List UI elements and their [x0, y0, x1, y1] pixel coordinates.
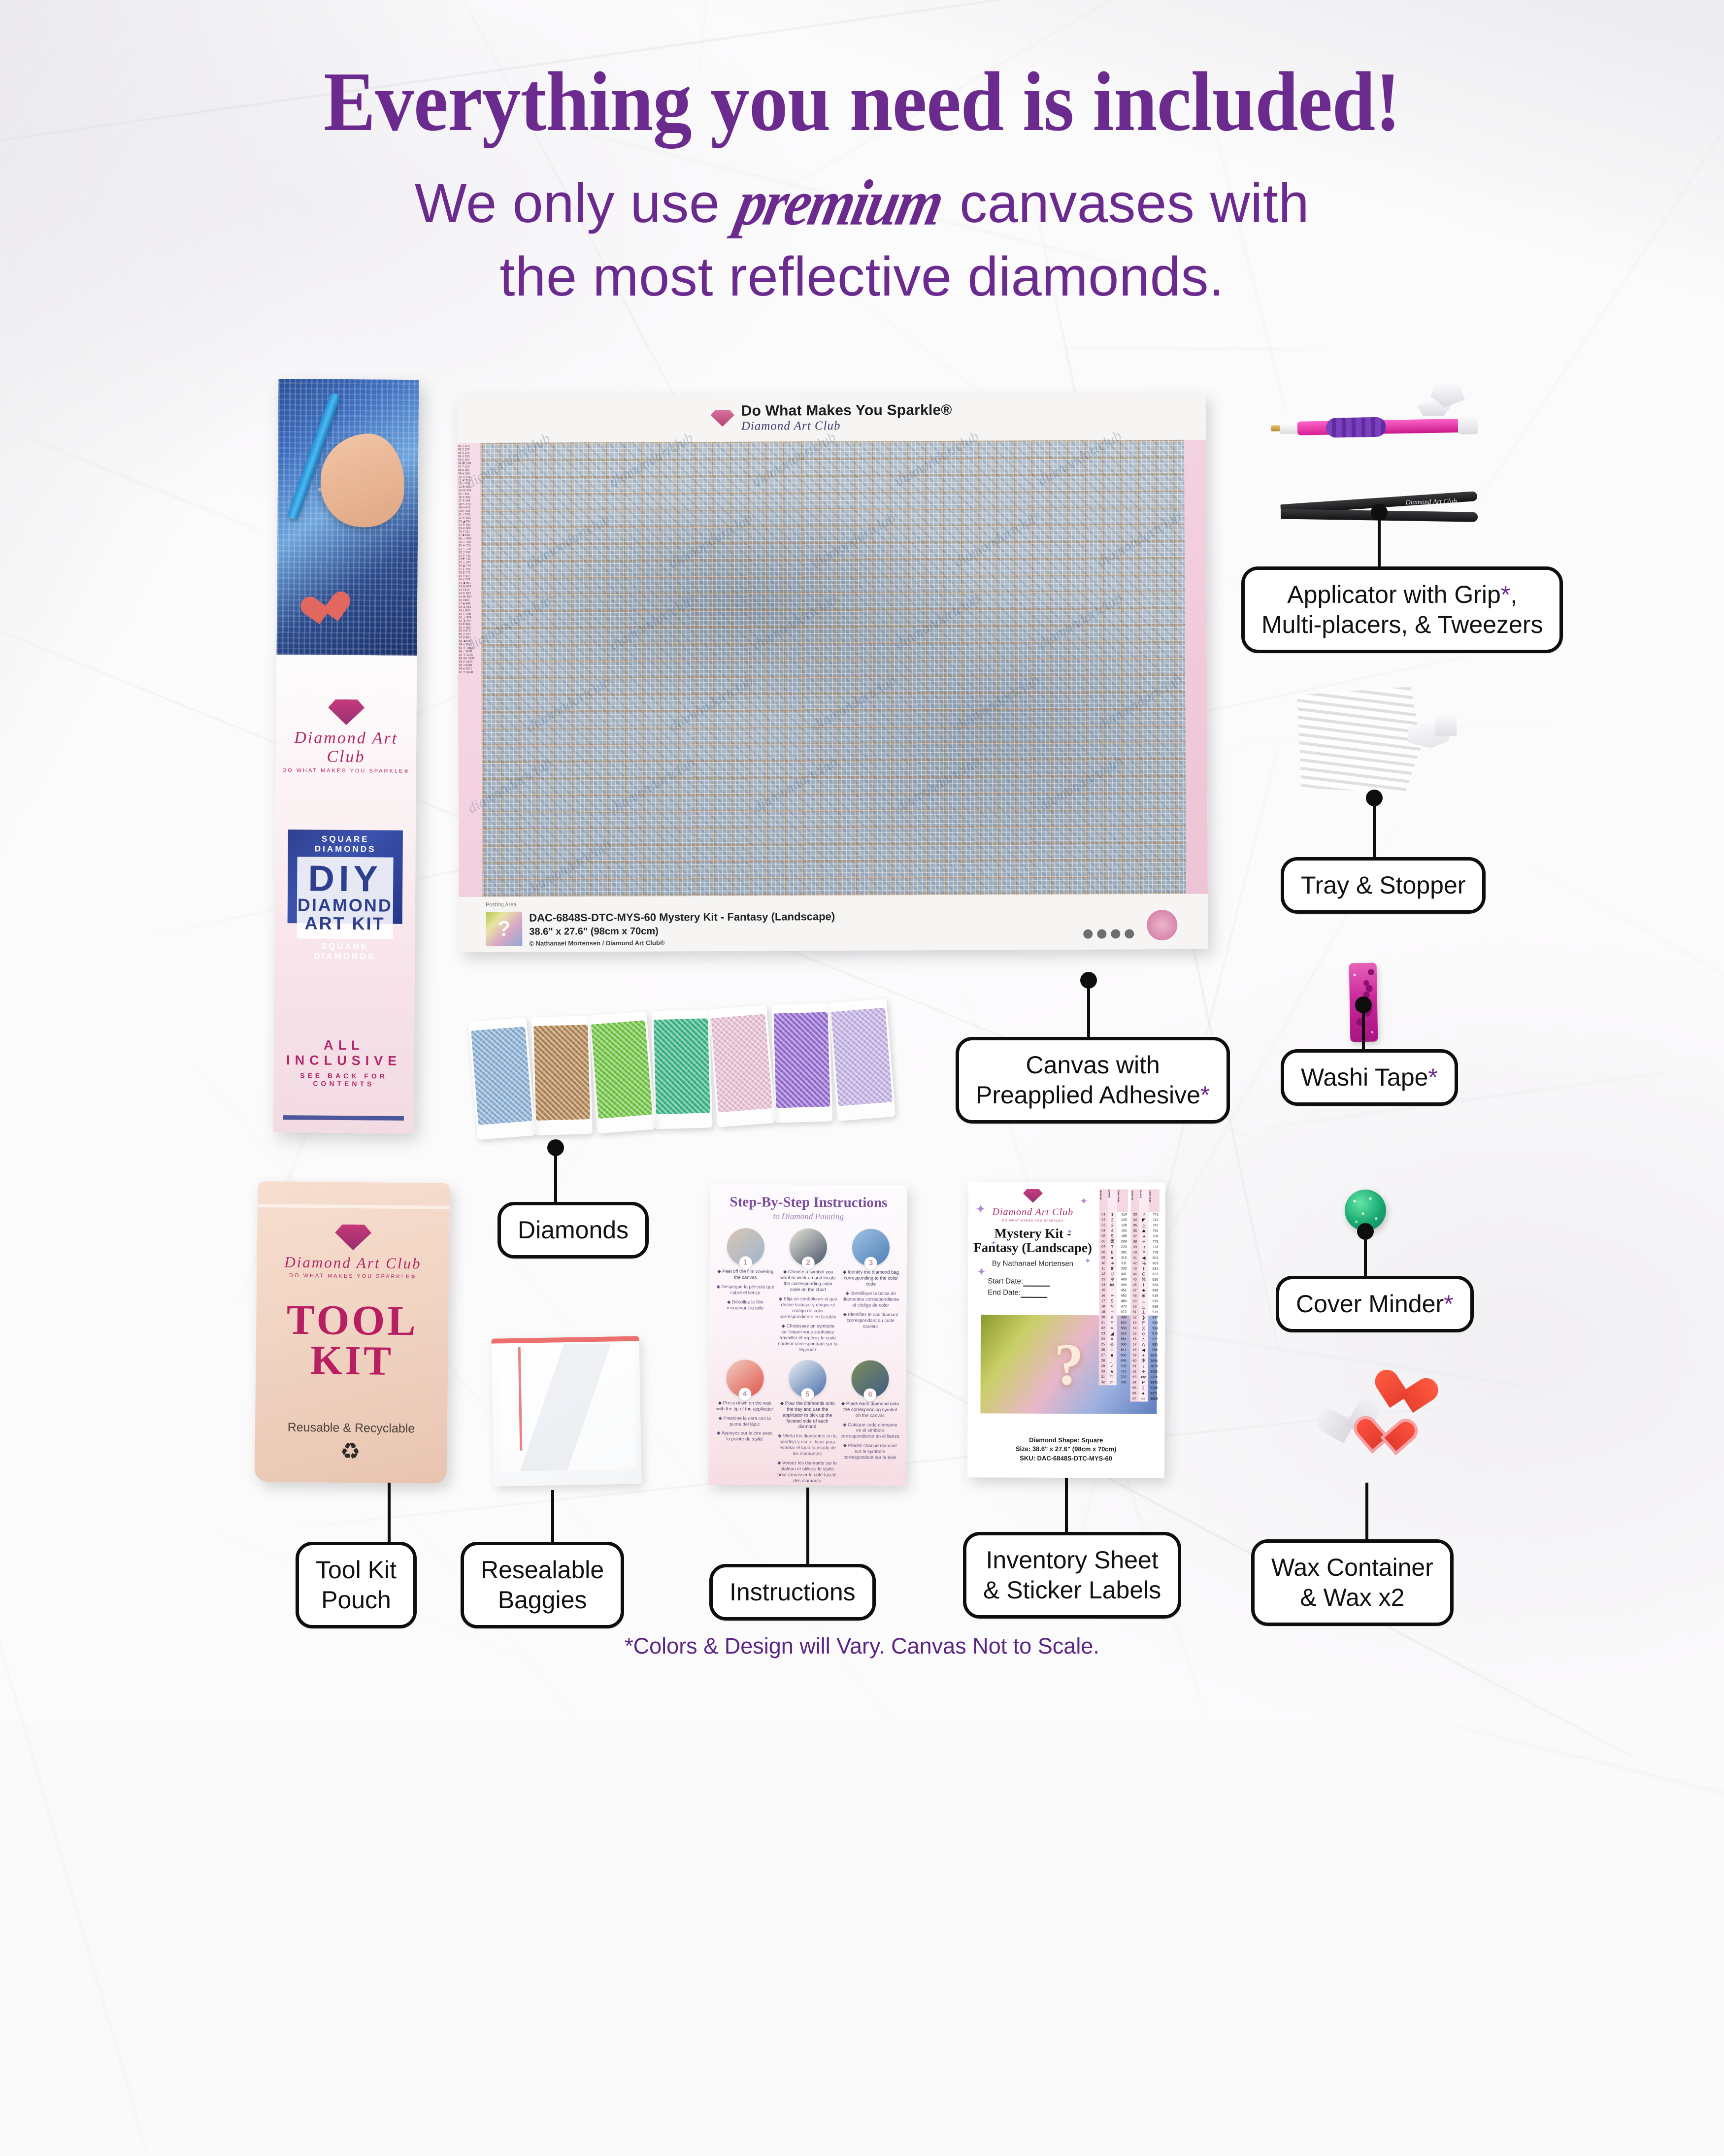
inventory-cell-sy: #: [1139, 1250, 1149, 1256]
inventory-cell-sy: ✕: [1107, 1336, 1117, 1342]
inventory-cell-cc: 747: [1149, 1223, 1160, 1228]
inventory-table-row: 49L935: [1130, 1298, 1159, 1304]
inventory-cell-sy: ↑: [1107, 1288, 1117, 1293]
instruction-text-fr: ◆ Choisissez un symbole sur lequel vous …: [778, 1323, 838, 1353]
inventory-table-row: 011119: [1099, 1212, 1128, 1217]
inventory-cell-sn: 49: [1130, 1298, 1139, 1304]
diy-line2: DIAMOND: [297, 896, 393, 915]
callout-label-line: Inventory Sheet: [983, 1545, 1161, 1575]
instruction-text-en: ◆ Choose a symbol you want to work on an…: [778, 1269, 838, 1294]
inventory-table-row: 12U341: [1099, 1271, 1127, 1277]
inventory-cell-sn: 43: [1130, 1266, 1139, 1271]
subtitle-part2: canvases with: [960, 172, 1309, 234]
inventory-table-row: 10➜311: [1099, 1260, 1127, 1266]
inventory-header-cc: Color Code: [1149, 1190, 1160, 1212]
inventory-table-row: 50◺938: [1130, 1304, 1159, 1309]
diamond-bag-lip: [531, 1016, 590, 1026]
callout-label-washi: Washi Tape*: [1281, 1049, 1458, 1106]
leader-line: [1065, 1478, 1068, 1532]
instruction-step-photo: 1: [727, 1228, 764, 1265]
inventory-cell-cc: 964: [1148, 1326, 1159, 1331]
inventory-cell-sn: 65: [1130, 1385, 1139, 1391]
inventory-cell-sy: 朩: [1139, 1359, 1148, 1364]
inventory-cell-sy: F: [1139, 1321, 1148, 1326]
inventory-table-row: 06柔208: [1099, 1239, 1128, 1244]
inventory-cell-sy: J: [1139, 1386, 1148, 1391]
callout-label-baggies: ResealableBaggies: [461, 1542, 624, 1628]
instruction-text-fr: ◆ Décollez le film recouvrant la toile: [715, 1299, 775, 1312]
inventory-cell-sy: ⇨: [1138, 1396, 1148, 1402]
callout-label-line: Preapplied Adhesive*: [976, 1080, 1210, 1110]
inventory-cell-cc: 498: [1117, 1315, 1127, 1320]
inventory-cell-cc: 502: [1117, 1320, 1127, 1326]
instruction-step-number: 4: [738, 1388, 751, 1400]
inventory-cell-sn: 18: [1099, 1304, 1107, 1309]
diamond-bag-fill: [831, 1008, 893, 1106]
inventory-cell-sy: ‡: [1107, 1347, 1117, 1353]
diamond-bag-fill: [711, 1014, 772, 1112]
wax-container: [1358, 1417, 1403, 1459]
canvas-copyright: © Nathanael Mortensen / Diamond Art Club…: [529, 938, 835, 947]
inventory-cell-sn: 02: [1099, 1217, 1108, 1223]
instruction-text-es: ◆ Vierta los diamantes en la bandeja y u…: [777, 1433, 837, 1458]
callout-label-wax: Wax Container& Wax x2: [1251, 1539, 1454, 1626]
canvas-watermark: diamondartclub: [808, 510, 898, 572]
diamond-bag-lip: [771, 1003, 829, 1014]
callout-label-line: Baggies: [481, 1585, 604, 1615]
inventory-table-row: 022120: [1099, 1217, 1128, 1223]
social-icons: [1083, 929, 1134, 938]
instructions-heading: Step-By-Step Instructions: [716, 1194, 901, 1211]
inventory-cell-sn: 67: [1130, 1396, 1138, 1401]
inventory-cell-sy: P: [1139, 1380, 1148, 1386]
inventory-cell-cc: 3078: [1148, 1364, 1159, 1369]
inventory-table-row: 31♡702: [1099, 1374, 1127, 1380]
leader-line: [551, 1490, 554, 1542]
inventory-table-row: 21Y502: [1099, 1320, 1127, 1326]
instruction-text-en: ◆ Place each diamond onto the correspond…: [840, 1401, 900, 1419]
instructions-subheading: to Diamond Painting: [716, 1211, 901, 1222]
inventory-cell-cc: 120: [1117, 1217, 1128, 1223]
marble-vein: [1526, 863, 1724, 1114]
inventory-cell-sn: 62: [1130, 1369, 1139, 1374]
inventory-table-row: 16✳452: [1099, 1293, 1127, 1298]
tweezer-brand-script: Diamond Art Club: [1405, 498, 1457, 507]
pen-cap-end: [1458, 416, 1478, 434]
instruction-step: 6◆ Place each diamond onto the correspon…: [840, 1360, 900, 1485]
brand-tagline: DO WHAT MAKES YOU SPARKLE®: [276, 767, 416, 774]
inventory-cell-sn: 41: [1130, 1255, 1139, 1260]
inventory-cell-cc: 165: [1117, 1233, 1128, 1239]
inventory-cell-cc: 451: [1117, 1288, 1127, 1293]
instruction-step-number: 5: [801, 1388, 814, 1401]
inventory-table-row: 42%803: [1130, 1260, 1159, 1266]
canvas-watermark: diamondartclub: [893, 591, 983, 653]
inventory-cell-sn: 50: [1130, 1304, 1139, 1309]
inventory-cell-sy: ∧: [1139, 1337, 1148, 1342]
canvas-footer-text: DAC-6848S-DTC-MYS-60 Mystery Kit - Fanta…: [529, 910, 835, 947]
inventory-cell-sn: 34: [1131, 1217, 1139, 1223]
inventory-cell-cc: 452: [1117, 1293, 1127, 1298]
inventory-cell-sn: 55: [1130, 1331, 1139, 1336]
instruction-step: 3◆ Identify the diamond bag correspondin…: [840, 1228, 901, 1353]
washi-pattern-dot: [1368, 969, 1374, 975]
inventory-cell-sy: +: [1139, 1353, 1148, 1359]
canvas-header: Do What Makes You Sparkle® Diamond Art C…: [457, 393, 1206, 443]
inventory-cell-cc: 772: [1149, 1239, 1160, 1245]
resealable-baggies: [491, 1336, 641, 1486]
inventory-cell-sy: A: [1139, 1342, 1148, 1348]
inventory-table-row: 62✛3325: [1130, 1369, 1159, 1374]
posting-area-label: Posting Area: [486, 902, 516, 908]
callout-label-line: Pouch: [316, 1585, 397, 1615]
inventory-cell-sn: 45: [1130, 1277, 1139, 1282]
asterisk-marker: *: [1200, 1081, 1210, 1109]
inventory-cell-sn: 09: [1099, 1255, 1107, 1260]
inventory-cell-sy: ◀: [1139, 1256, 1148, 1261]
inventory-cell-cc: 472: [1117, 1309, 1127, 1315]
inventory-cell-sy: C: [1139, 1272, 1148, 1277]
inventory-cell-sn: 53: [1130, 1320, 1139, 1326]
inventory-cell-cc: 814: [1148, 1266, 1159, 1272]
inventory-table-row: 38E772: [1131, 1239, 1160, 1244]
inventory-table-row: 077223: [1099, 1244, 1128, 1250]
inventory-artist: By Nathanael Mortensen: [973, 1260, 1092, 1268]
inventory-cell-sy: ◤: [1139, 1218, 1149, 1223]
diamond-bag: [468, 1018, 535, 1140]
social-icon: [1097, 929, 1106, 939]
tray-pan: [1294, 687, 1423, 795]
start-date-label: Start Date:: [988, 1277, 1023, 1286]
inventory-table-row: 20K498: [1099, 1315, 1127, 1320]
inventory-table-row: 23◢554: [1099, 1331, 1127, 1336]
diamond-bag: [829, 998, 895, 1121]
inventory-cell-cc: 700: [1117, 1363, 1127, 1369]
instruction-step-photo: 3: [852, 1228, 890, 1266]
inventory-cell-sn: 22: [1099, 1326, 1107, 1331]
inventory-cell-sn: 31: [1099, 1374, 1107, 1380]
inventory-cell-cc: 3064: [1148, 1359, 1159, 1364]
inventory-cell-sn: 32: [1099, 1380, 1107, 1385]
inventory-cell-sn: 63: [1130, 1374, 1139, 1380]
instruction-text-fr: ◆ Placez chaque diamant sur le symbole c…: [840, 1443, 900, 1461]
brand-script: Diamond Art Club: [973, 1206, 1093, 1218]
inventory-cell-sy: I: [1139, 1283, 1148, 1288]
inventory-table-row: 56∧977: [1130, 1336, 1159, 1342]
inventory-cell-cc: 469: [1117, 1298, 1127, 1304]
instruction-step: 5◆ Pour the diamonds onto the tray and u…: [777, 1360, 838, 1484]
inventory-cell-sn: 13: [1099, 1277, 1107, 1282]
pouch-title-line1: TOOL: [256, 1298, 449, 1342]
inventory-cell-sn: 17: [1099, 1298, 1107, 1304]
social-icon: [1083, 929, 1093, 939]
pouch-title: TOOL KIT: [256, 1298, 449, 1383]
instruction-step-photo: 6: [852, 1360, 889, 1397]
diamond-bag: [531, 1016, 593, 1135]
inventory-table-row: 24✕581: [1099, 1336, 1127, 1342]
all-inclusive-text: ALL INCLUSIVE: [274, 1037, 414, 1069]
square-diamonds-bottom: SQUARE DIAMONDS: [292, 941, 398, 962]
inventory-table-row: 30★701: [1099, 1369, 1127, 1374]
leader-line: [1087, 980, 1090, 1037]
callout-label-line: Instructions: [729, 1577, 856, 1607]
marble-vein: [349, 1448, 817, 2006]
inventory-cell-cc: 995: [1148, 1342, 1159, 1348]
inventory-cell-sn: 24: [1099, 1336, 1107, 1342]
subtitle-line2: the most reflective diamonds.: [499, 246, 1224, 307]
diy-title-inner: DIY DIAMOND ART KIT: [297, 857, 393, 939]
brand-script: Diamond Art Club: [257, 1253, 449, 1273]
inventory-table-row: 57A995: [1130, 1342, 1159, 1347]
inventory-cell-sn: 48: [1130, 1293, 1139, 1298]
inventory-cell-sy: X: [1139, 1326, 1148, 1331]
instruction-step: 1◆ Peel off the film covering the canvas…: [715, 1228, 776, 1353]
canvas-legend-row: 67 ⇨ 3608: [459, 671, 480, 674]
inventory-cell-sn: 23: [1099, 1331, 1107, 1336]
canvas-watermark: diamondartclub: [809, 672, 899, 734]
inventory-cell-sn: 59: [1130, 1353, 1139, 1358]
inventory-table-row: 26‡611: [1099, 1347, 1127, 1353]
inventory-cell-cc: 3325: [1148, 1369, 1159, 1375]
inventory-table-row: 51⊥939: [1130, 1309, 1159, 1315]
leader-dot: [1357, 1223, 1374, 1240]
inventory-cell-cc: 938: [1148, 1304, 1159, 1310]
inventory-cell-cc: 333: [1117, 1266, 1127, 1271]
leader-dot: [1355, 996, 1372, 1013]
inventory-table-row: 18✎470: [1099, 1304, 1127, 1309]
inventory-cell-sy: ⊥: [1139, 1310, 1148, 1315]
inventory-cell-sn: 35: [1131, 1223, 1139, 1228]
inventory-table-row: 63⋘3326: [1130, 1374, 1159, 1380]
instruction-text-es: ◆ Despegue la película que cubre el lien…: [715, 1284, 775, 1296]
canvas-watermark: diamondartclub: [524, 836, 614, 898]
leader-dot: [1371, 504, 1388, 521]
inventory-cell-cc: 778: [1149, 1245, 1160, 1250]
inventory-cell-cc: 301: [1117, 1250, 1128, 1255]
inventory-cell-cc: 155: [1117, 1228, 1128, 1233]
leader-line: [388, 1483, 391, 1542]
diamond-bag-fill: [774, 1012, 830, 1108]
inventory-cell-sn: 11: [1099, 1266, 1107, 1271]
inventory-cell-cc: 898: [1148, 1288, 1159, 1294]
diamond-bag: [651, 1009, 712, 1129]
marble-vein: [1051, 347, 1330, 350]
inventory-table-row: 53F958: [1130, 1320, 1159, 1326]
inventory-cell-cc: 754: [1149, 1228, 1160, 1234]
inventory-cell-cc: 550: [1117, 1326, 1127, 1331]
inventory-cell-sy: ↓: [1139, 1364, 1148, 1369]
callout-label-line: Diamonds: [518, 1215, 629, 1245]
inventory-table-row: 44C823: [1130, 1271, 1159, 1277]
asterisk-marker: *: [1428, 1063, 1437, 1091]
inventory-table-row: 055165: [1099, 1233, 1128, 1239]
inventory-table-row: 044155: [1099, 1228, 1128, 1233]
instruction-row-bottom: 4◆ Press down on the wax with the tip of…: [714, 1360, 900, 1485]
inventory-cell-sn: 40: [1131, 1250, 1139, 1255]
inventory-cell-sy: ❯: [1139, 1315, 1148, 1321]
inventory-cell-cc: 223: [1117, 1244, 1128, 1250]
pouch-title-line2: KIT: [256, 1340, 448, 1382]
inventory-cell-sy: ≃: [1107, 1326, 1117, 1331]
leader-dot: [547, 1139, 564, 1156]
canvas-watermark: diamondartclub: [1094, 508, 1184, 570]
social-icon: [1125, 929, 1134, 938]
washi-pattern-dot: [1369, 988, 1372, 991]
inventory-cell-sn: 12: [1099, 1271, 1107, 1277]
instruction-step-number: 6: [864, 1388, 877, 1401]
inventory-cell-sn: 03: [1099, 1223, 1108, 1228]
inventory-table-row: 55α976: [1130, 1331, 1159, 1336]
leader-dot: [1080, 972, 1097, 989]
inventory-cell-sy: ♡: [1107, 1374, 1117, 1380]
inventory-cell-sy: K: [1107, 1315, 1117, 1320]
canvas-brand-text: Do What Makes You Sparkle® Diamond Art C…: [741, 402, 952, 433]
callout-label-line: & Sticker Labels: [983, 1575, 1161, 1605]
inventory-table-column-2: Serial No.SymbolColor Code33⚲74134◤74235…: [1130, 1189, 1160, 1401]
leader-line: [806, 1488, 809, 1564]
callout-label-inventory: Inventory Sheet& Sticker Labels: [963, 1532, 1181, 1619]
inventory-cell-cc: 740: [1117, 1380, 1127, 1385]
inventory-cell-sn: 42: [1130, 1260, 1139, 1266]
inventory-cell-sn: 26: [1099, 1347, 1107, 1353]
inventory-cell-sy: 4: [1108, 1228, 1117, 1233]
inventory-cell-cc: 894: [1148, 1283, 1159, 1288]
inventory-table-row: 39ח778: [1131, 1244, 1160, 1250]
inventory-cell-sn: 66: [1130, 1391, 1139, 1396]
pen-shaft-right: [1383, 419, 1461, 434]
end-date-label: End Date:: [988, 1289, 1021, 1297]
inventory-cell-sy: ℓ: [1139, 1266, 1148, 1272]
canvas-watermark: diamondartclub: [607, 755, 697, 817]
diamond-bag: [771, 1003, 832, 1123]
inventory-table-row: 46I894: [1130, 1282, 1159, 1288]
canvas-slogan: Do What Makes You Sparkle®: [741, 402, 952, 420]
callout-label-line: Multi-placers, & Tweezers: [1261, 610, 1543, 640]
callout-label-instructions: Instructions: [709, 1564, 876, 1621]
inventory-cell-sy: ⌘: [1139, 1277, 1148, 1283]
callout-label-line: Applicator with Grip*,: [1261, 580, 1543, 610]
callout-label-line: Tray & Stopper: [1301, 870, 1465, 900]
inventory-table-row: 58◀996: [1130, 1347, 1159, 1353]
pen-foam-grip: [1326, 417, 1387, 438]
tray-stopper: [1435, 714, 1457, 736]
canvas-watermark: diamondartclub: [1035, 590, 1126, 652]
inventory-cell-sy: H: [1107, 1309, 1117, 1315]
instruction-text-en: ◆ Peel off the film covering the canvas: [716, 1269, 775, 1281]
canvas-watermark: diamondartclub: [665, 510, 756, 572]
inventory-cell-sy: ➜: [1107, 1260, 1117, 1266]
diy-box-lower-panel: Diamond Art Club DO WHAT MAKES YOU SPARK…: [273, 655, 417, 1133]
diamond-gem-icon: [711, 410, 734, 427]
inventory-cell-cc: 444: [1117, 1282, 1127, 1288]
pouch-reusable-text: Reusable & Recyclable: [255, 1420, 447, 1436]
inventory-cell-cc: 606: [1117, 1342, 1127, 1347]
page-title: Everything you need is included!: [69, 59, 1655, 145]
inventory-cell-sy: ✳: [1107, 1293, 1117, 1298]
callout-label-line: Resealable: [481, 1555, 604, 1585]
brand-tagline: DO WHAT MAKES YOU SPARKLE®: [257, 1272, 449, 1280]
diamond-tray: [1294, 686, 1469, 795]
inventory-cell-cc: 208: [1117, 1239, 1128, 1244]
inventory-cell-sn: 58: [1130, 1347, 1139, 1353]
wax-heart-illustration: [304, 593, 342, 628]
inventory-cell-sn: 60: [1130, 1358, 1139, 1363]
inventory-cell-sy: ◕: [1139, 1234, 1149, 1239]
inventory-cell-sy: Y: [1107, 1320, 1117, 1326]
canvas-footer: Posting Area ? DAC-6848S-DTC-MYS-60 Myst…: [459, 894, 1208, 953]
inventory-cell-sy: E: [1139, 1239, 1149, 1245]
inventory-cell-sn: 19: [1099, 1309, 1107, 1315]
inventory-cell-cc: 3608: [1148, 1396, 1159, 1402]
callout-label-diamonds: Diamonds: [497, 1202, 649, 1259]
instruction-text-en: ◆ Press down on the wax with the tip of …: [715, 1400, 774, 1413]
canvas-watermark: diamondartclub: [524, 673, 614, 735]
canvas-watermark: diamondartclub: [666, 673, 757, 735]
inventory-cell-sy: S: [1107, 1298, 1117, 1304]
inventory-cell-cc: 823: [1148, 1272, 1159, 1277]
headline-block: Everything you need is included! We only…: [0, 59, 1724, 312]
instruction-text-fr: ◆ Appuyez sur la cire avec la pointe du …: [715, 1430, 774, 1443]
inventory-cell-cc: 128: [1117, 1223, 1128, 1228]
inventory-table-column-1: Serial No.SymbolColor Code01111902212003…: [1099, 1189, 1128, 1385]
canvas-watermark: diamondartclub: [951, 509, 1041, 571]
inventory-table-row: 67⇨3608: [1130, 1396, 1159, 1401]
brand-seal: [1147, 910, 1177, 940]
instruction-text-es: ◆ Coloque cada diamante en el símbolo co…: [840, 1422, 900, 1440]
diamond-painting-canvas: Do What Makes You Sparkle® Diamond Art C…: [457, 393, 1208, 953]
inventory-cell-sn: 05: [1099, 1233, 1108, 1239]
inventory-table-row: 43ℓ814: [1130, 1266, 1159, 1271]
inventory-cell-sy: ⊕: [1139, 1294, 1148, 1299]
inventory-cell-cc: 581: [1117, 1336, 1127, 1342]
instruction-step-number: 3: [864, 1257, 877, 1270]
inventory-cell-cc: 919: [1148, 1294, 1159, 1299]
diy-box-logo: Diamond Art Club DO WHAT MAKES YOU SPARK…: [276, 699, 417, 774]
inventory-table-row: 52❯947: [1130, 1315, 1159, 1320]
canvas-watermark: diamondartclub: [607, 592, 697, 654]
inventory-cell-cc: 801: [1148, 1256, 1159, 1261]
inventory-cell-sn: 64: [1130, 1380, 1139, 1385]
inventory-title: Mystery Kit - Fantasy (Landscape): [973, 1226, 1093, 1255]
inventory-table-row: 40#779: [1131, 1250, 1160, 1255]
callout-label-line: Wax Container: [1271, 1553, 1433, 1583]
instruction-step-photo: 2: [790, 1228, 827, 1266]
inventory-specs: Diamond Shape: Square Size: 38.6" x 27.6…: [967, 1435, 1164, 1463]
inventory-cell-cc: 958: [1148, 1321, 1159, 1326]
inventory-cell-sn: 21: [1099, 1320, 1107, 1326]
inventory-table-row: 32□740: [1099, 1380, 1127, 1385]
inventory-cell-cc: 947: [1148, 1315, 1159, 1321]
brand-tagline: DO WHAT MAKES YOU SPARKLE®: [973, 1219, 1093, 1223]
inventory-cell-sy: ◀: [1139, 1348, 1148, 1353]
inventory-cell-cc: 826: [1148, 1277, 1159, 1283]
tool-kit-pouch: Diamond Art Club DO WHAT MAKES YOU SPARK…: [255, 1181, 450, 1484]
start-date-field[interactable]: [1023, 1277, 1050, 1287]
subtitle-part1: We only use: [415, 172, 720, 234]
inventory-table-row: 35△747: [1131, 1223, 1160, 1228]
see-back-text: SEE BACK FOR CONTENTS: [273, 1071, 414, 1088]
inventory-cell-sn: 16: [1099, 1293, 1107, 1298]
inventory-cell-sn: 07: [1099, 1244, 1108, 1250]
asterisk-marker: *: [1501, 581, 1510, 608]
leader-dot: [1366, 790, 1383, 806]
inventory-cell-sn: 54: [1130, 1326, 1139, 1331]
inventory-table-row: 15↑451: [1099, 1288, 1127, 1293]
instruction-row-top: 1◆ Peel off the film covering the canvas…: [715, 1228, 901, 1354]
callout-label-line: Tool Kit: [316, 1555, 397, 1585]
end-date-field[interactable]: [1021, 1289, 1047, 1298]
canvas-adhesive-edge: [1184, 440, 1208, 894]
